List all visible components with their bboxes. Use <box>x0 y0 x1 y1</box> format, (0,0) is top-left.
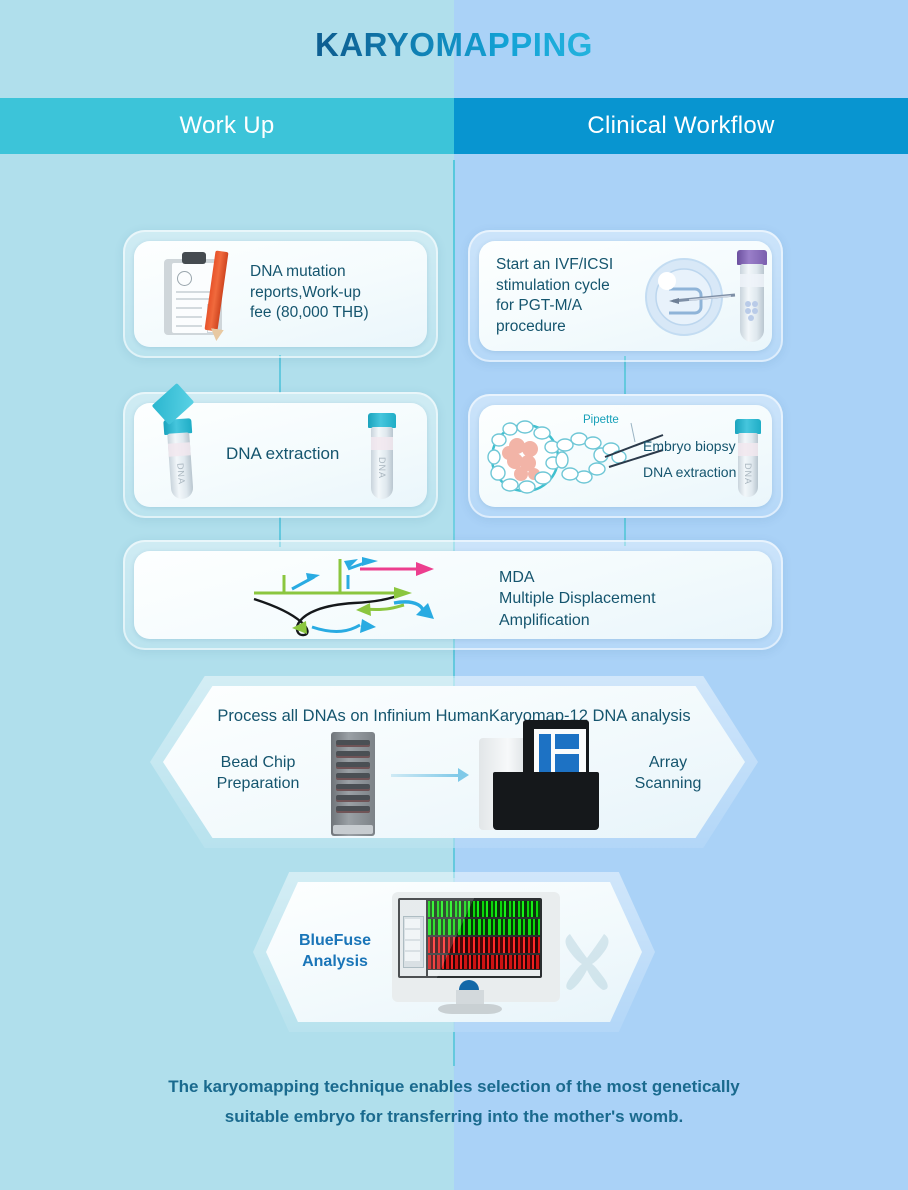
chromosome-icon <box>558 928 616 990</box>
sample-tube-biopsy-icon: DNA <box>735 419 761 497</box>
mda-text-line1: MDA <box>499 567 656 588</box>
page-title: KARYOMAPPING <box>0 26 908 64</box>
footer-line2: suitable embryo for transferring into th… <box>0 1102 908 1132</box>
array-scanner-icon <box>479 720 619 836</box>
column-header-work-up: Work Up <box>0 98 454 154</box>
sample-tube-closed-icon: DNA <box>368 413 396 499</box>
infinium-left-line2: Preparation <box>193 773 323 794</box>
card-workup-dna-mutation-reports[interactable]: DNA mutation reports,Work-up fee (80,000… <box>134 241 427 347</box>
card-infinium-analysis[interactable]: Process all DNAs on Infinium HumanKaryom… <box>163 686 745 838</box>
clinical1-text-line1: Start an IVF/ICSI <box>496 255 656 276</box>
clinical2-text-line2: DNA extraction <box>643 463 736 482</box>
card-workup-dna-extraction[interactable]: DNA DNA extraction DNA <box>134 403 427 507</box>
dna-strand-icon <box>244 555 474 637</box>
mda-text-line3: Amplification <box>499 610 656 631</box>
infinium-left-line1: Bead Chip <box>193 752 323 773</box>
workup1-text-line2: reports,Work-up <box>250 283 420 304</box>
infinium-heading: Process all DNAs on Infinium HumanKaryom… <box>163 706 745 728</box>
clipboard-pencil-icon <box>158 249 238 343</box>
connector-mda-to-infinium <box>453 648 455 678</box>
sample-tube-purple-icon <box>737 250 767 342</box>
clinical2-text-line1: Embryo biopsy <box>643 437 736 456</box>
clinical1-text-line3: for PGT-M/A <box>496 296 656 317</box>
icsi-injection-icon <box>639 253 739 341</box>
flow-arrow-head-icon <box>458 768 469 782</box>
infinium-right-line1: Array <box>603 752 733 773</box>
footer-caption: The karyomapping technique enables selec… <box>0 1072 908 1132</box>
clinical1-text-line4: procedure <box>496 317 656 338</box>
desktop-monitor-icon <box>392 892 558 1018</box>
column-header-clinical-workflow: Clinical Workflow <box>454 98 908 154</box>
connector-bluefuse-to-footer <box>453 1032 455 1066</box>
card-bluefuse-analysis[interactable]: BlueFuse Analysis <box>266 882 642 1022</box>
connector-clinical1-to-clinical2 <box>624 374 626 394</box>
mda-text-line2: Multiple Displacement <box>499 588 656 609</box>
workup2-label: DNA extraction <box>226 443 339 466</box>
card-mda[interactable]: MDA Multiple Displacement Amplification <box>134 551 772 639</box>
blastocyst-biopsy-icon <box>485 413 665 501</box>
footer-line1: The karyomapping technique enables selec… <box>0 1072 908 1102</box>
card-clinical-embryo-biopsy[interactable]: Pipette Embryo biopsy DNA extraction DNA <box>479 405 772 507</box>
workup1-text-line3: fee (80,000 THB) <box>250 303 420 324</box>
bead-chip-rack-icon <box>331 732 375 836</box>
connector-workup1-to-workup2 <box>279 355 281 393</box>
bluefuse-line2: Analysis <box>280 951 390 972</box>
pipette-label: Pipette <box>583 413 619 428</box>
bluefuse-line1: BlueFuse <box>280 930 390 951</box>
workup1-text-line1: DNA mutation <box>250 262 420 283</box>
card-clinical-ivf-icsi[interactable]: Start an IVF/ICSI stimulation cycle for … <box>479 241 772 351</box>
flow-arrow-icon <box>391 774 459 777</box>
infinium-right-line2: Scanning <box>603 773 733 794</box>
clinical1-text-line2: stimulation cycle <box>496 276 656 297</box>
sample-tube-open-icon: DNA <box>163 418 197 500</box>
